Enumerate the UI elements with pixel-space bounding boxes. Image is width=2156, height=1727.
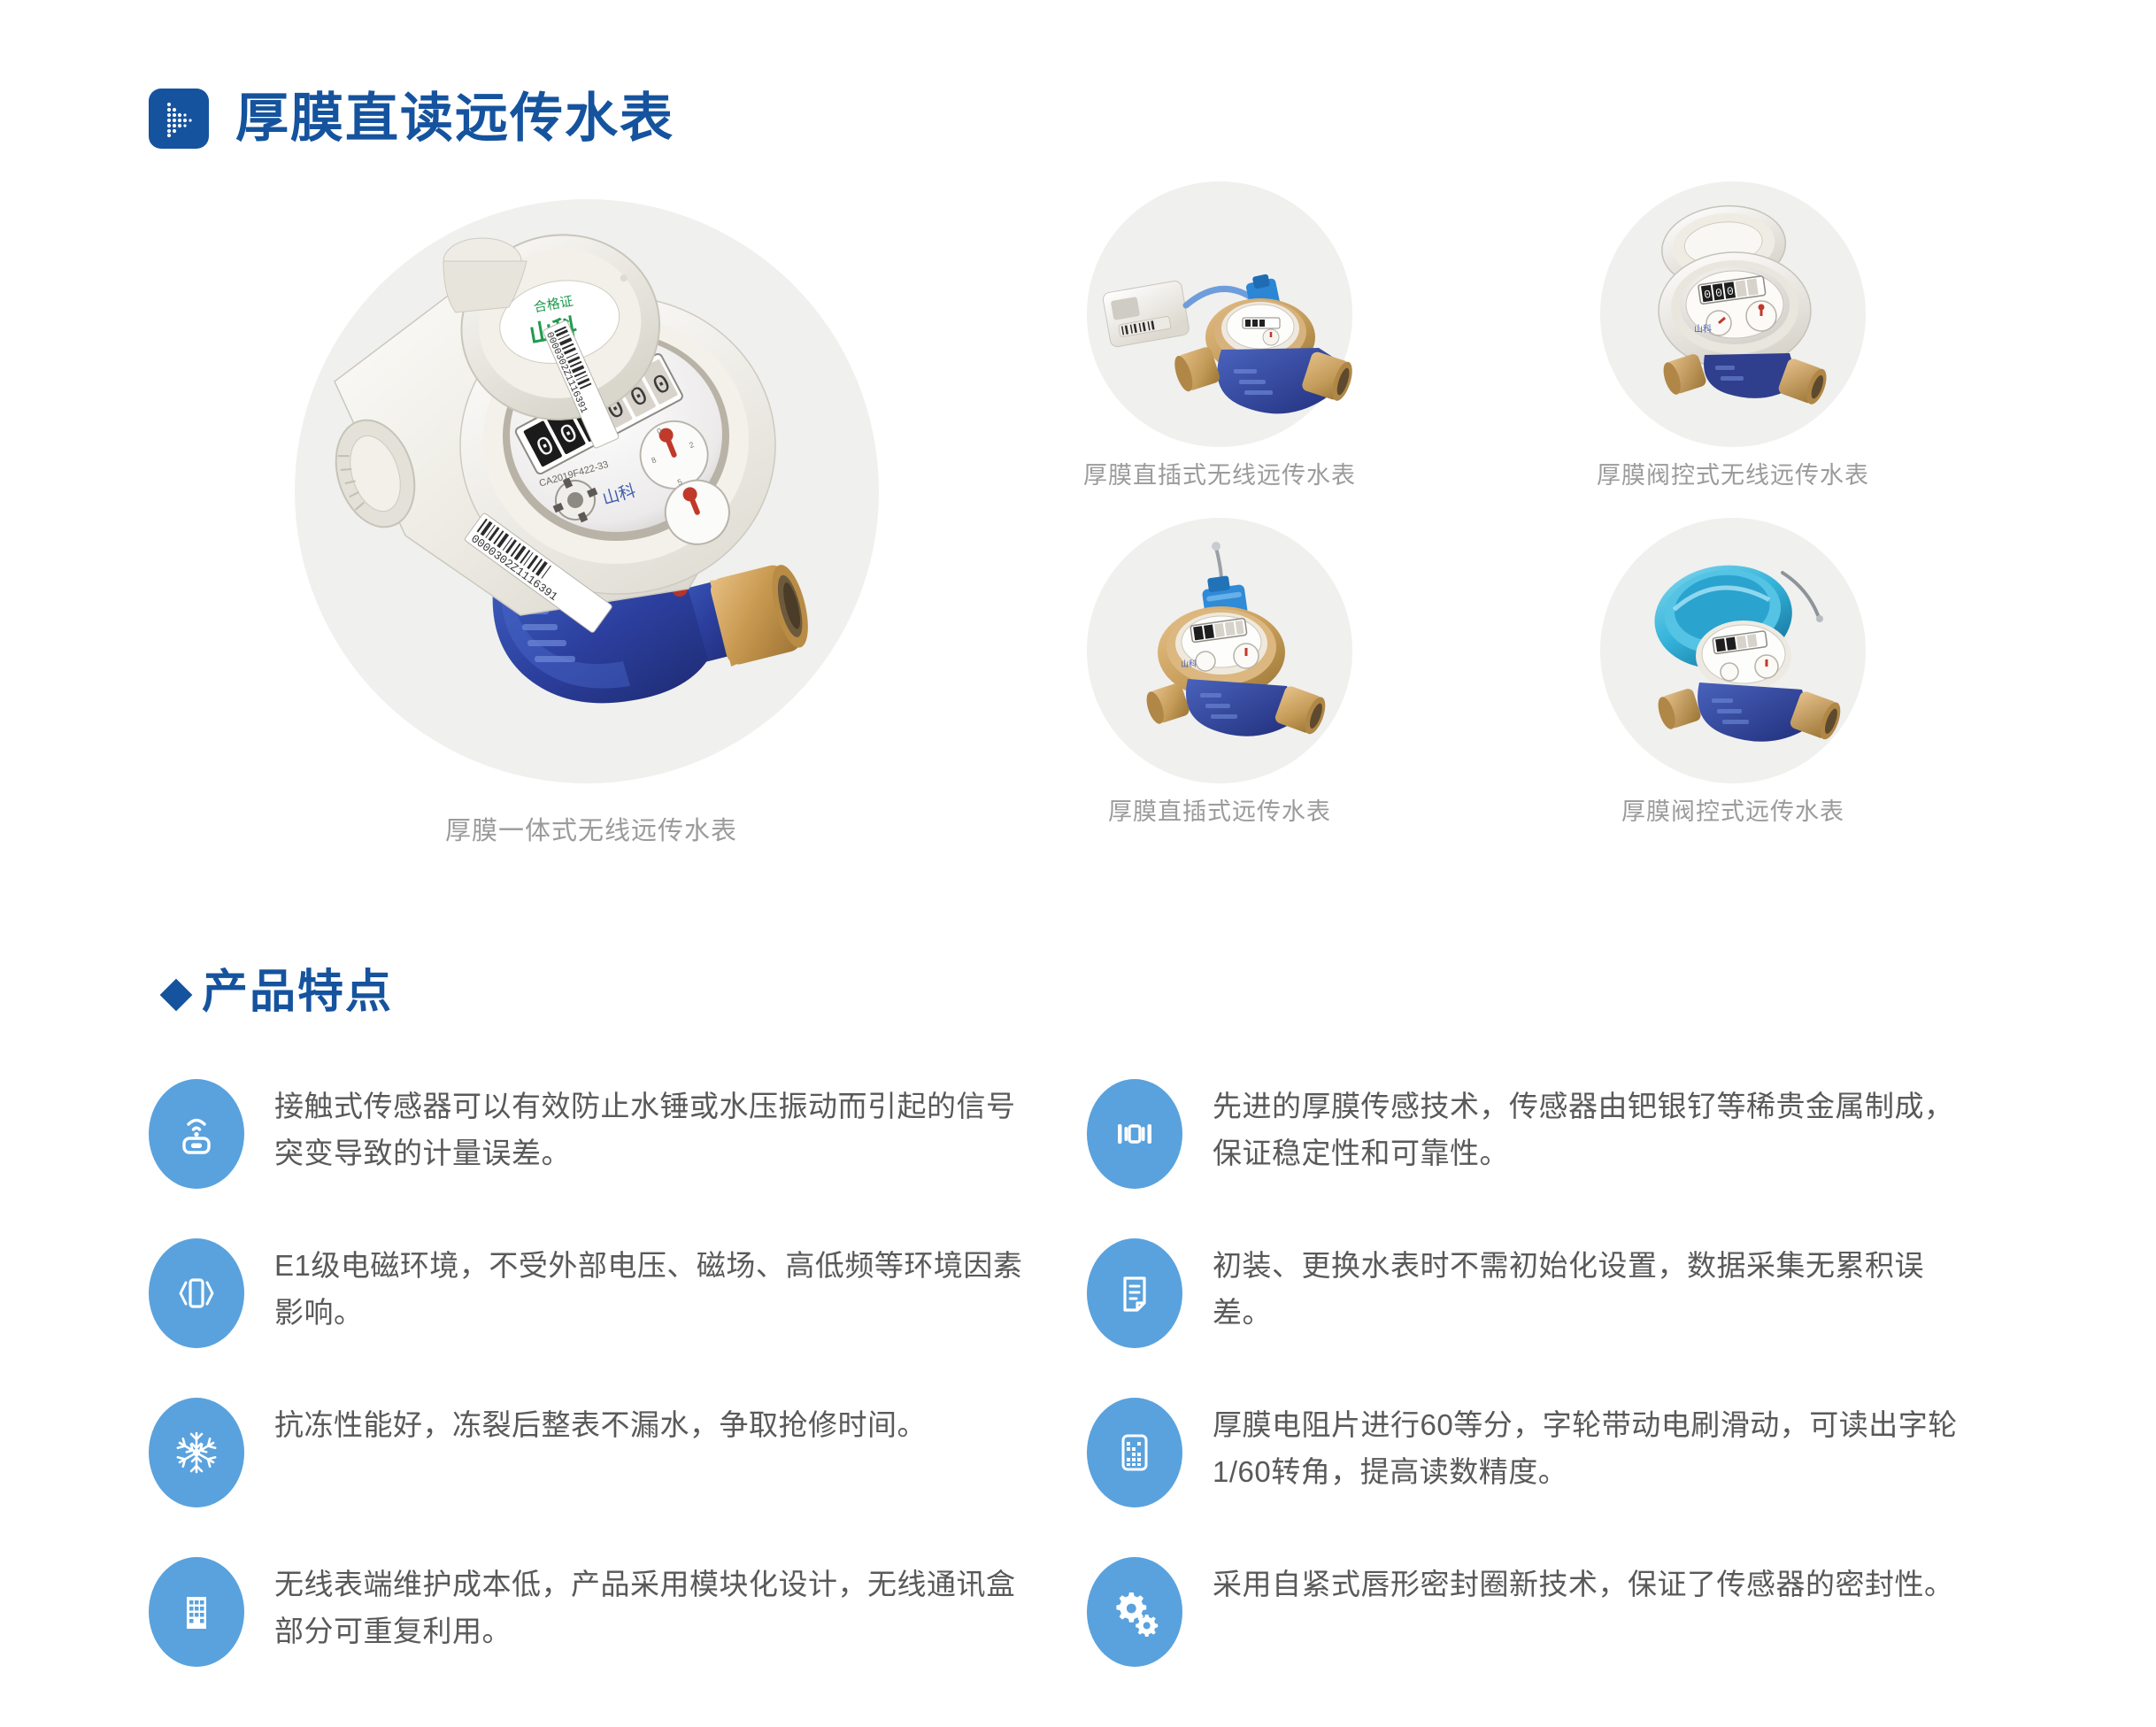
water-meter-valve-photo xyxy=(1600,518,1866,783)
product-thumb-caption: 厚膜阀控式无线远传水表 xyxy=(1485,456,1981,490)
features-section-header: 产品特点 xyxy=(165,969,393,1015)
product-thumb[interactable]: 000 山科 xyxy=(1485,181,1981,536)
hero-product-figure[interactable]: 000 000 xyxy=(246,190,936,952)
water-meter-valve-wireless-photo: 000 山科 xyxy=(1600,181,1866,447)
product-thumb-caption: 厚膜直插式远传水表 xyxy=(972,792,1467,827)
feature-text: 接触式传感器可以有效防止水锤或水压振动而引起的信号突变导致的计量误差。 xyxy=(274,1076,1034,1177)
features-grid: 接触式传感器可以有效防止水锤或水压振动而引起的信号突变导致的计量误差。 先进的厚… xyxy=(149,1076,2025,1713)
gears-icon xyxy=(1087,1557,1182,1667)
features-title: 产品特点 xyxy=(202,969,393,1015)
feature-text: 抗冻性能好，冻裂后整表不漏水，争取抢修时间。 xyxy=(274,1394,927,1448)
water-meter-integrated-wireless-photo: 000 000 xyxy=(299,208,874,775)
resistor-grid-icon xyxy=(1087,1398,1182,1507)
feature-item: 初装、更换水表时不需初始化设置，数据采集无累积误差。 xyxy=(1087,1235,2025,1394)
diamond-bullet-icon xyxy=(160,979,193,1012)
feature-text: 采用自紧式唇形密封圈新技术，保证了传感器的密封性。 xyxy=(1213,1554,1954,1607)
thick-film-sensor-icon xyxy=(1087,1079,1182,1189)
hero-product-caption: 厚膜一体式无线远传水表 xyxy=(246,810,936,847)
product-thumb[interactable]: 厚膜阀控式远传水表 xyxy=(1485,518,1981,872)
wireless-sensor-icon xyxy=(149,1079,244,1189)
water-meter-plugin-wireless-photo xyxy=(1087,181,1352,447)
feature-item: 抗冻性能好，冻裂后整表不漏水，争取抢修时间。 xyxy=(149,1394,1087,1554)
building-icon xyxy=(149,1557,244,1667)
feature-item: 无线表端维护成本低，产品采用模块化设计，无线通讯盒部分可重复利用。 xyxy=(149,1554,1087,1713)
feature-item: 采用自紧式唇形密封圈新技术，保证了传感器的密封性。 xyxy=(1087,1554,2025,1713)
product-thumb[interactable]: 厚膜直插式无线远传水表 xyxy=(972,181,1467,536)
page-title: 厚膜直读远传水表 xyxy=(235,92,674,145)
feature-item: E1级电磁环境，不受外部电压、磁场、高低频等环境因素影响。 xyxy=(149,1235,1087,1394)
anti-vibration-icon xyxy=(149,1238,244,1348)
document-icon xyxy=(1087,1238,1182,1348)
product-thumb-caption: 厚膜阀控式远传水表 xyxy=(1485,792,1981,827)
product-thumb[interactable]: 山科 xyxy=(972,518,1467,872)
product-page: 厚膜直读远传水表 xyxy=(0,0,2156,1727)
product-thumbnail-grid: 厚膜直插式无线远传水表 xyxy=(972,181,1998,925)
product-thumb-caption: 厚膜直插式无线远传水表 xyxy=(972,456,1467,490)
snowflake-icon xyxy=(149,1398,244,1507)
section-header: 厚膜直读远传水表 xyxy=(149,89,674,149)
feature-item: 厚膜电阻片进行60等分，字轮带动电刷滑动，可读出字轮1/60转角，提高读数精度。 xyxy=(1087,1394,2025,1554)
feature-text: E1级电磁环境，不受外部电压、磁场、高低频等环境因素影响。 xyxy=(274,1235,1034,1337)
feature-item: 先进的厚膜传感技术，传感器由钯银钌等稀贵金属制成，保证稳定性和可靠性。 xyxy=(1087,1076,2025,1235)
dotted-play-arrow-icon xyxy=(149,89,209,149)
feature-text: 无线表端维护成本低，产品采用模块化设计，无线通讯盒部分可重复利用。 xyxy=(274,1554,1034,1655)
water-meter-plugin-photo: 山科 xyxy=(1087,518,1352,783)
feature-text: 厚膜电阻片进行60等分，字轮带动电刷滑动，可读出字轮1/60转角，提高读数精度。 xyxy=(1213,1394,1972,1496)
feature-item: 接触式传感器可以有效防止水锤或水压振动而引起的信号突变导致的计量误差。 xyxy=(149,1076,1087,1235)
feature-text: 先进的厚膜传感技术，传感器由钯银钌等稀贵金属制成，保证稳定性和可靠性。 xyxy=(1213,1076,1972,1177)
product-showcase: 000 000 xyxy=(149,181,2007,916)
feature-text: 初装、更换水表时不需初始化设置，数据采集无累积误差。 xyxy=(1213,1235,1972,1337)
svg-text:山科: 山科 xyxy=(1181,659,1197,668)
svg-text:山科: 山科 xyxy=(1694,323,1712,335)
